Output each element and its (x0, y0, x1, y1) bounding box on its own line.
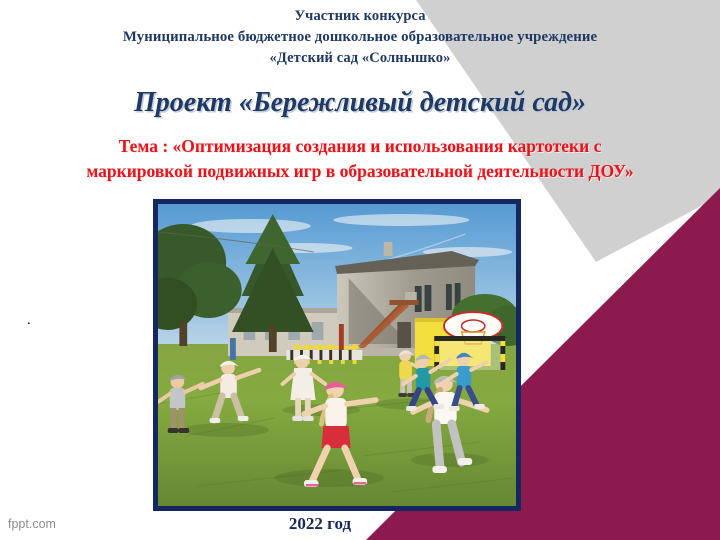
kindergarten-photo: Дети играют в подвижную игру на лужайке … (158, 204, 516, 506)
header-line-participant: Участник конкурса (0, 6, 720, 27)
left-dot-marker: . (27, 313, 31, 328)
header-block: Участник конкурса Муниципальное бюджетно… (0, 6, 720, 69)
fppt-watermark: fppt.com (8, 516, 56, 532)
project-title: Проект «Бережливый детский сад» (0, 86, 720, 120)
header-line-kindergarten-name: «Детский сад «Солнышко» (0, 48, 720, 69)
year-label: 2022 год (230, 513, 410, 535)
theme-line-2: маркировкой подвижных игр в образователь… (18, 159, 702, 184)
theme-block: Тема : «Оптимизация создания и использов… (18, 134, 702, 184)
theme-line-1: Тема : «Оптимизация создания и использов… (18, 134, 702, 159)
header-line-institution: Муниципальное бюджетное дошкольное образ… (0, 27, 720, 48)
kindergarten-photo-frame: Дети играют в подвижную игру на лужайке … (153, 199, 521, 511)
presentation-slide: Участник конкурса Муниципальное бюджетно… (0, 0, 720, 540)
